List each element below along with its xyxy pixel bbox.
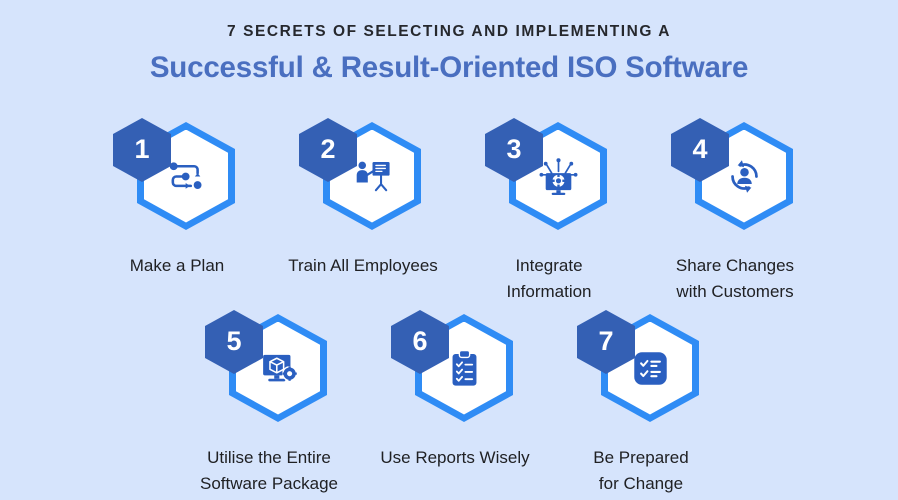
step-card-4[interactable]: 4 Share Changes with Customers — [642, 118, 828, 305]
step-card-5[interactable]: 5 Utilise the Entire Software Package — [176, 310, 362, 497]
hexagon-7: 7 — [577, 310, 705, 422]
step-card-2[interactable]: 2 Train All Employees — [270, 118, 456, 305]
hexagon-6: 6 — [391, 310, 519, 422]
hexagon-2: 2 — [299, 118, 427, 230]
step-label-1: Make a Plan — [130, 253, 225, 279]
step-label-2: Train All Employees — [288, 253, 438, 279]
hexagon-3: 3 — [485, 118, 613, 230]
infographic-header: 7 SECRETS OF SELECTING AND IMPLEMENTING … — [0, 0, 898, 82]
step-number-4: 4 — [692, 136, 707, 163]
step-label-3: Integrate Information — [506, 253, 591, 305]
step-label-6: Use Reports Wisely — [380, 445, 529, 471]
page-title: Successful & Result-Oriented ISO Softwar… — [0, 53, 898, 83]
eyebrow-text: 7 SECRETS OF SELECTING AND IMPLEMENTING … — [0, 24, 898, 40]
step-label-4: Share Changes with Customers — [676, 253, 794, 305]
step-card-6[interactable]: 6 Use Reports Wisely — [362, 310, 548, 497]
step-number-1: 1 — [134, 136, 149, 163]
hexagon-5: 5 — [205, 310, 333, 422]
step-card-7[interactable]: 7 Be Prepared for Change — [548, 310, 734, 497]
steps-row-top: 1 Make a Plan 2 Train All — [84, 118, 828, 305]
hexagon-1: 1 — [113, 118, 241, 230]
step-number-2: 2 — [320, 136, 335, 163]
step-label-5: Utilise the Entire Software Package — [200, 445, 338, 497]
step-card-3[interactable]: 3 Integrate Information — [456, 118, 642, 305]
step-number-5: 5 — [226, 328, 241, 355]
step-number-6: 6 — [412, 328, 427, 355]
step-label-7: Be Prepared for Change — [593, 445, 688, 497]
step-number-3: 3 — [506, 136, 521, 163]
hexagon-4: 4 — [671, 118, 799, 230]
step-number-7: 7 — [598, 328, 613, 355]
steps-row-bottom: 5 Utilise the Entire Software Package — [176, 310, 734, 497]
step-card-1[interactable]: 1 Make a Plan — [84, 118, 270, 305]
